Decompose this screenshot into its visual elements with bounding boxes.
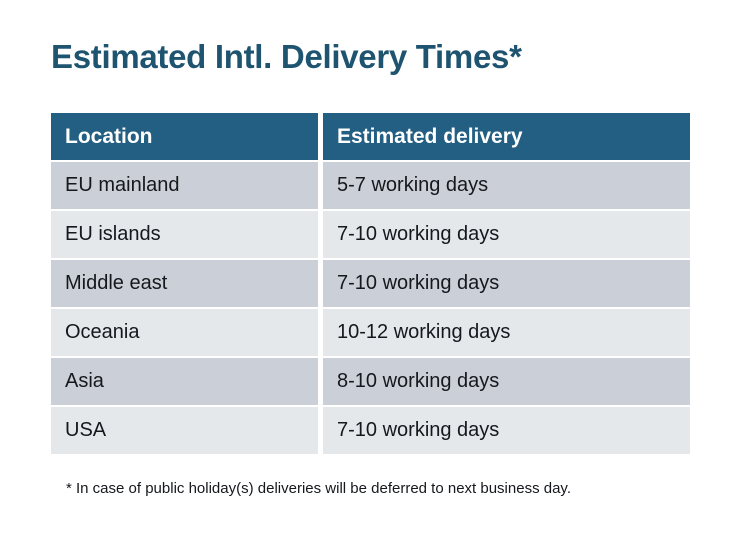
cell-delivery: 5-7 working days: [323, 162, 690, 209]
cell-delivery: 7-10 working days: [323, 407, 690, 454]
cell-location: EU mainland: [51, 162, 318, 209]
column-header-estimated-delivery: Estimated delivery: [323, 113, 690, 160]
table-row: USA 7-10 working days: [51, 407, 690, 454]
estimated-delivery-times-table: Location Estimated delivery EU mainland …: [51, 113, 690, 454]
table-body: EU mainland 5-7 working days EU islands …: [51, 160, 690, 454]
cell-delivery: 7-10 working days: [323, 211, 690, 258]
page-title: Estimated Intl. Delivery Times*: [51, 38, 522, 76]
table-row: EU islands 7-10 working days: [51, 211, 690, 258]
cell-location: USA: [51, 407, 318, 454]
cell-delivery: 7-10 working days: [323, 260, 690, 307]
cell-delivery: 10-12 working days: [323, 309, 690, 356]
table-row: Asia 8-10 working days: [51, 358, 690, 405]
cell-location: Asia: [51, 358, 318, 405]
table-header-row: Location Estimated delivery: [51, 113, 690, 160]
column-header-location: Location: [51, 113, 318, 160]
table-header: Location Estimated delivery: [51, 113, 690, 160]
cell-delivery: 8-10 working days: [323, 358, 690, 405]
footnote-text: * In case of public holiday(s) deliverie…: [66, 480, 571, 497]
table-row: Middle east 7-10 working days: [51, 260, 690, 307]
table-row: Oceania 10-12 working days: [51, 309, 690, 356]
cell-location: Middle east: [51, 260, 318, 307]
table-row: EU mainland 5-7 working days: [51, 162, 690, 209]
cell-location: Oceania: [51, 309, 318, 356]
cell-location: EU islands: [51, 211, 318, 258]
delivery-times-card: Estimated Intl. Delivery Times* Location…: [0, 0, 745, 536]
